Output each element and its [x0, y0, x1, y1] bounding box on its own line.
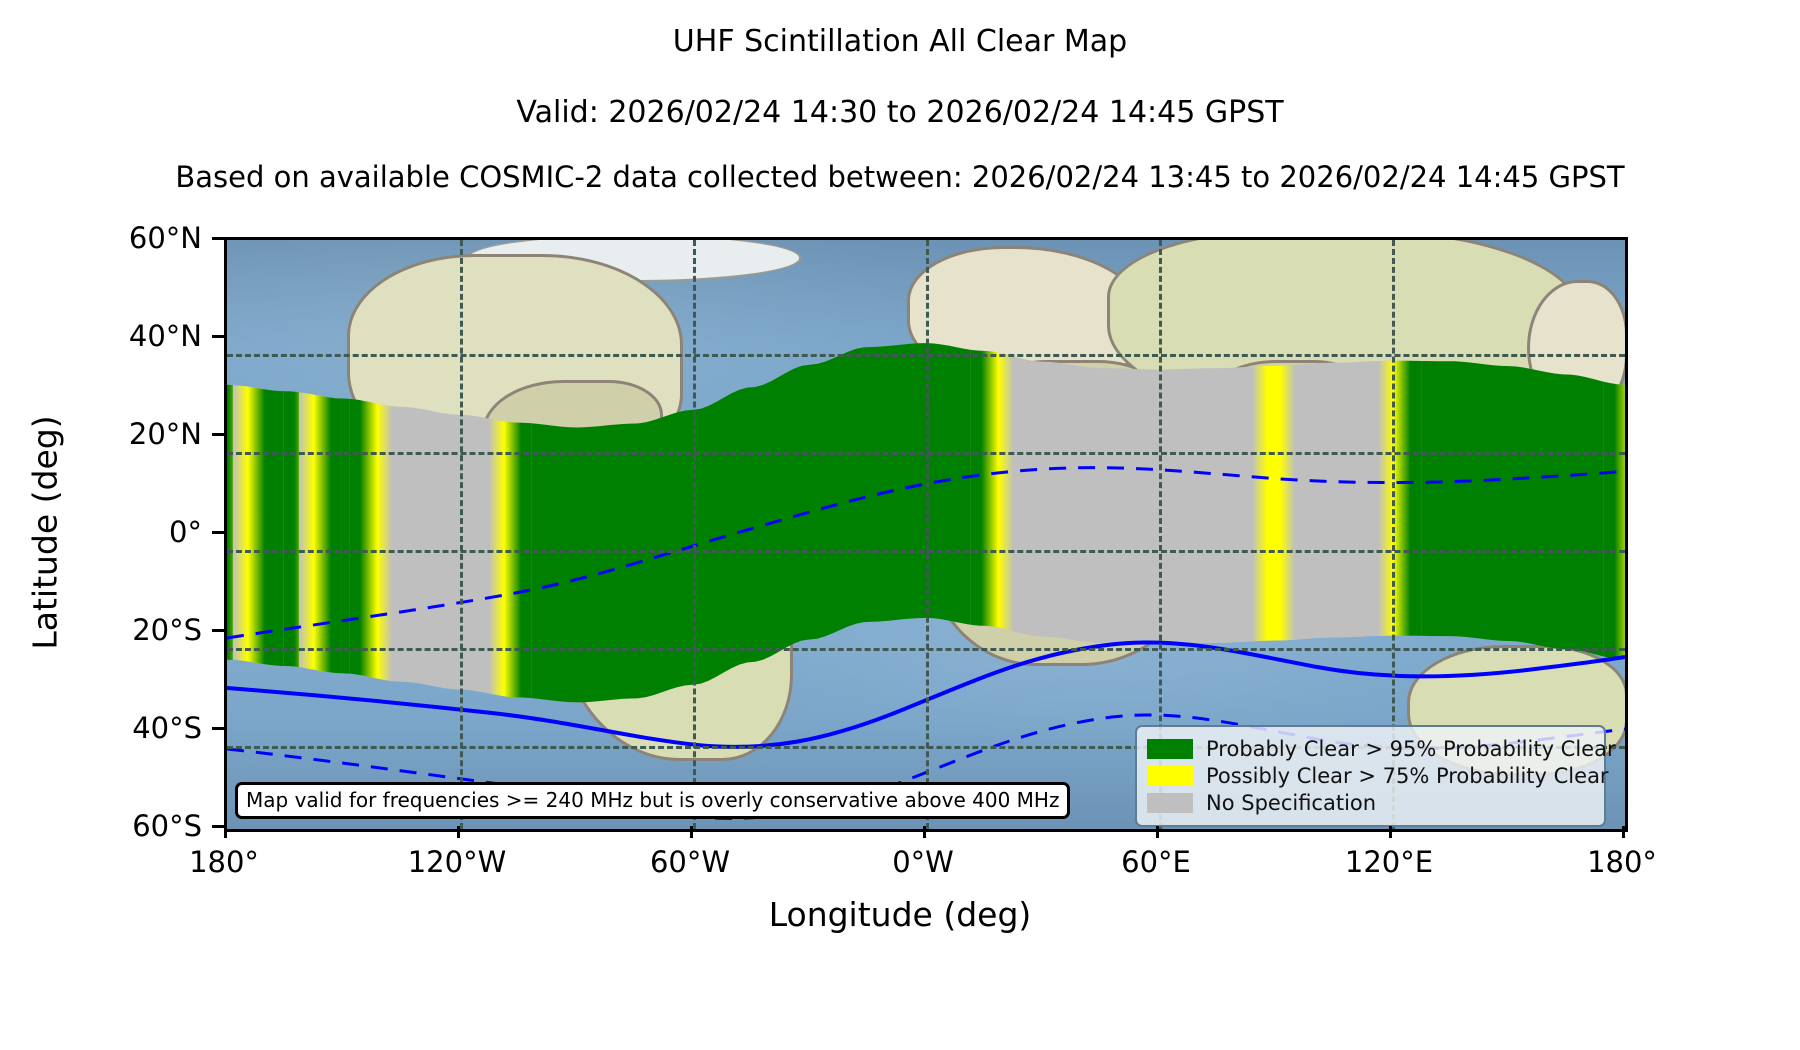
legend-label-possibly-clear: Possibly Clear > 75% Probability Clear	[1206, 764, 1609, 788]
legend-label-probably-clear: Probably Clear > 95% Probability Clear	[1206, 737, 1616, 761]
x-tick-60e	[1156, 826, 1159, 838]
x-tick-label-120e: 120°E	[1345, 845, 1433, 879]
x-tick-label-120w: 120°W	[408, 845, 507, 879]
valid-time-text: Valid: 2026/02/24 14:30 to 2026/02/24 14…	[0, 95, 1800, 130]
x-tick-label-60w: 60°W	[650, 845, 730, 879]
map-legend[interactable]: Probably Clear > 95% Probability Clear P…	[1135, 725, 1606, 827]
legend-item-possibly-clear[interactable]: Possibly Clear > 75% Probability Clear	[1147, 762, 1594, 789]
legend-item-no-specification[interactable]: No Specification	[1147, 789, 1594, 816]
x-tick-label-180e: 180°	[1587, 845, 1657, 879]
y-tick-0	[212, 531, 224, 534]
legend-item-probably-clear[interactable]: Probably Clear > 95% Probability Clear	[1147, 735, 1594, 762]
y-tick-label-40n: 40°N	[129, 319, 202, 353]
legend-label-no-specification: No Specification	[1206, 791, 1376, 815]
x-tick-label-0: 0°W	[892, 845, 954, 879]
x-axis-title: Longitude (deg)	[0, 895, 1800, 934]
gridline-lon-60w	[693, 240, 696, 829]
y-tick-label-60n: 60°N	[129, 221, 202, 255]
legend-swatch-probably-clear	[1147, 739, 1193, 759]
page-title: UHF Scintillation All Clear Map	[0, 24, 1800, 59]
x-tick-180w	[224, 826, 227, 838]
y-tick-40s	[212, 727, 224, 730]
x-tick-label-180w: 180°	[189, 845, 259, 879]
x-tick-0	[923, 826, 926, 838]
y-tick-label-40s: 40°S	[132, 711, 202, 745]
map-plot-area[interactable]: Probably Clear > 95% Probability Clear P…	[224, 237, 1628, 832]
y-tick-60s	[212, 825, 224, 828]
y-tick-20n	[212, 433, 224, 436]
y-tick-40n	[212, 335, 224, 338]
gridline-lon-120w	[460, 240, 463, 829]
x-tick-label-60e: 60°E	[1121, 845, 1191, 879]
x-tick-180e	[1622, 826, 1625, 838]
y-tick-20s	[212, 629, 224, 632]
legend-swatch-possibly-clear	[1147, 766, 1193, 786]
data-basis-text: Based on available COSMIC-2 data collect…	[0, 160, 1800, 194]
y-tick-label-20n: 20°N	[129, 417, 202, 451]
y-tick-label-60s: 60°S	[132, 809, 202, 843]
frequency-validity-note: Map valid for frequencies >= 240 MHz but…	[235, 782, 1070, 819]
y-tick-label-20s: 20°S	[132, 613, 202, 647]
legend-swatch-no-specification	[1147, 793, 1193, 813]
y-tick-label-0: 0°	[169, 515, 202, 549]
y-axis-title: Latitude (deg)	[26, 253, 65, 813]
x-tick-120e	[1389, 826, 1392, 838]
gridline-lon-0	[926, 240, 929, 829]
x-tick-120w	[457, 826, 460, 838]
y-tick-60n	[212, 237, 224, 240]
x-tick-60w	[690, 826, 693, 838]
